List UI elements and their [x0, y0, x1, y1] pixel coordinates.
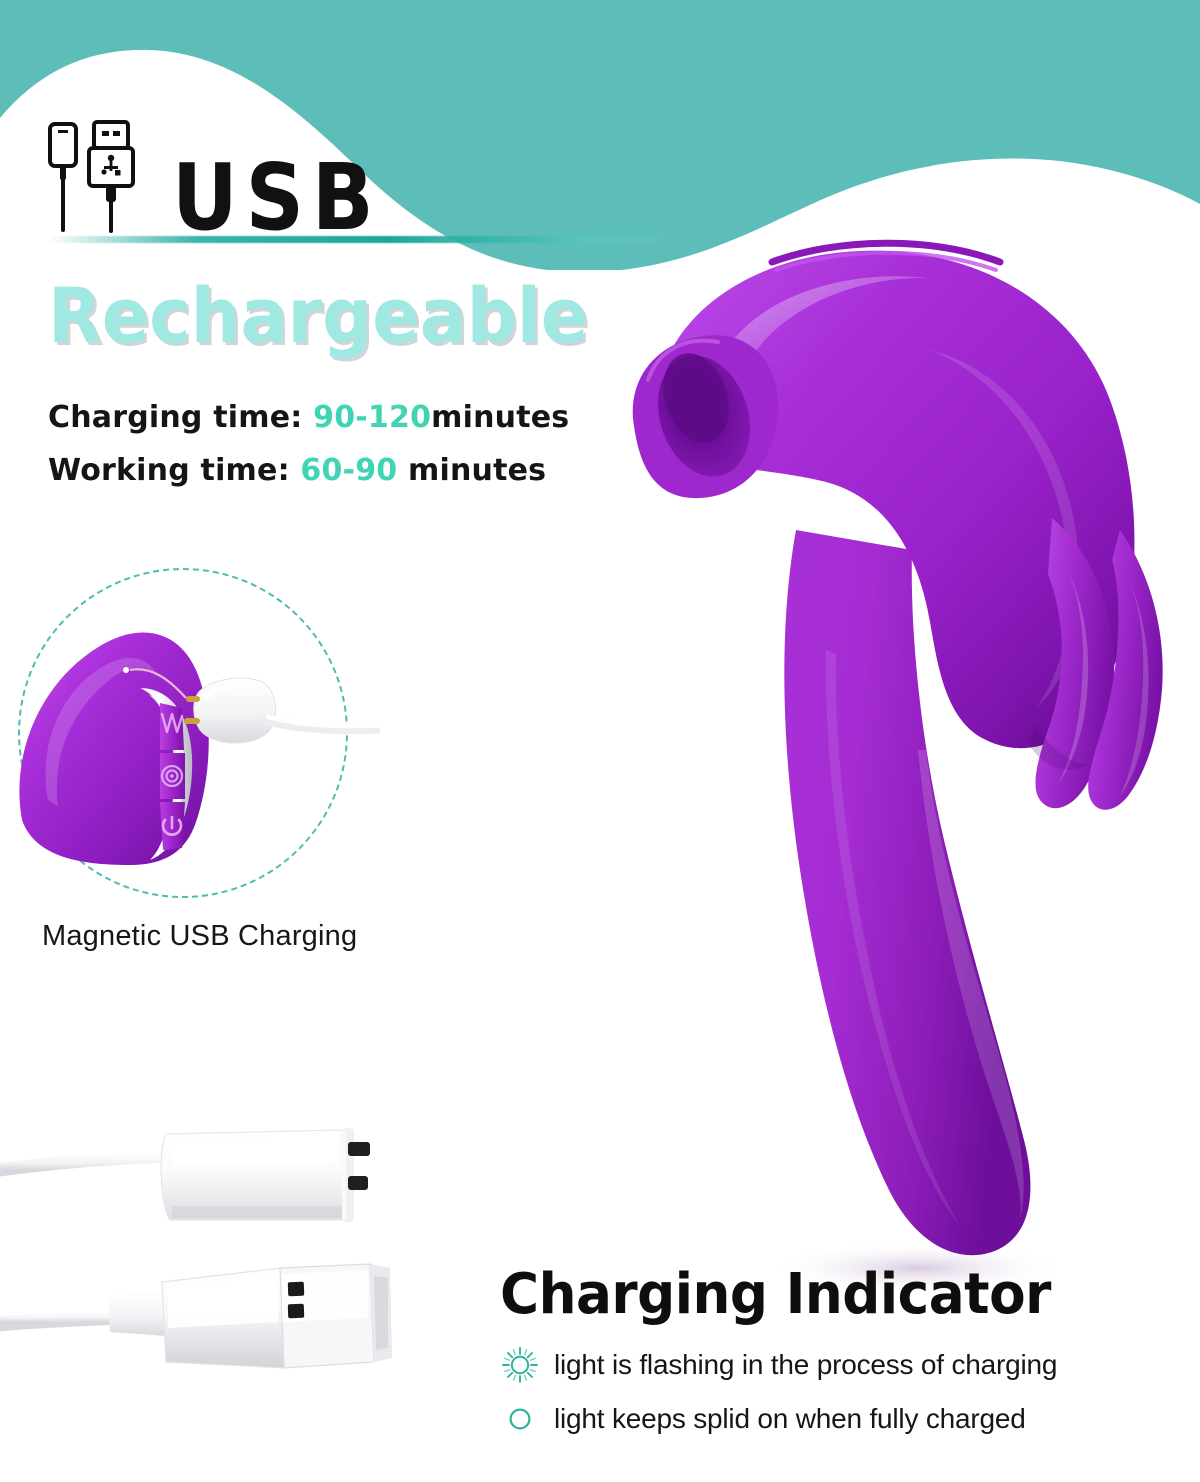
magnetic-charging-caption: Magnetic USB Charging: [42, 920, 357, 953]
charging-indicator-solid-text: light keeps splid on when fully charged: [554, 1403, 1026, 1435]
usb-title: USB: [172, 158, 382, 239]
solid-circle-outline-icon: [500, 1399, 540, 1439]
usb-lockup: USB: [40, 118, 410, 233]
magnetic-charging-illustration: [0, 560, 380, 910]
working-time-suffix: minutes: [397, 453, 546, 488]
charging-time-label: Charging time:: [48, 400, 313, 435]
flashing-sun-icon: [500, 1345, 540, 1385]
charging-time-suffix: minutes: [431, 400, 569, 435]
working-time-value: 60-90: [300, 453, 397, 488]
usb-cable-icon: [40, 118, 152, 233]
working-time-spec: Working time: 60-90 minutes: [48, 453, 546, 488]
charging-time-value: 90-120: [313, 400, 431, 435]
charging-indicator-title: Charging Indicator: [500, 1262, 1051, 1327]
cable-illustration: [0, 1110, 460, 1400]
usb-underline-divider: [48, 236, 728, 243]
charging-indicator-item-flashing: light is flashing in the process of char…: [500, 1345, 1160, 1385]
product-illustration: [600, 230, 1200, 1300]
working-time-label: Working time:: [48, 453, 300, 488]
magnetic-charging-connector: [0, 1128, 370, 1222]
usb-a-plug: [0, 1264, 392, 1368]
charging-time-spec: Charging time: 90-120minutes: [48, 400, 569, 435]
inset-button-group: [160, 703, 185, 850]
rechargeable-headline: Rechargeable: [48, 278, 588, 354]
charging-indicator-flashing-text: light is flashing in the process of char…: [554, 1349, 1057, 1381]
charging-indicator-item-solid: light keeps splid on when fully charged: [500, 1399, 1160, 1439]
charging-indicator-list: light is flashing in the process of char…: [500, 1345, 1160, 1453]
